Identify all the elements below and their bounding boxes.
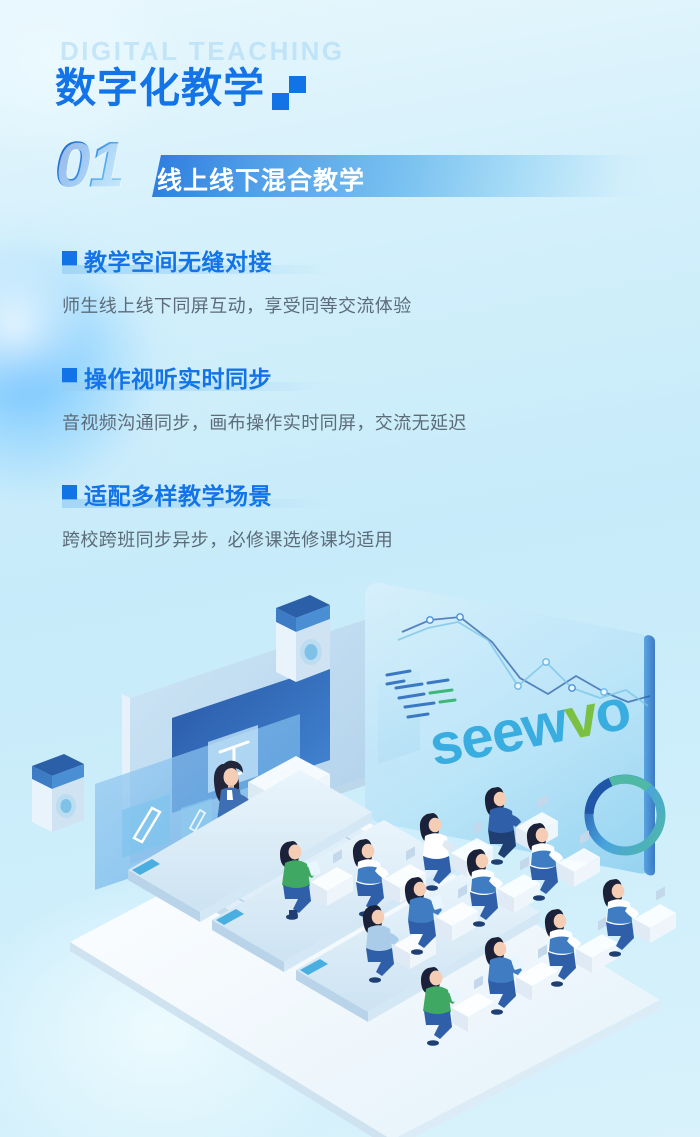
feature-item-3: 适配多样教学场景 跨校跨班同步异步，必修课选修课均适用: [62, 477, 622, 552]
section-banner: 01 线上线下混合教学: [55, 144, 655, 206]
feature-title-3: 适配多样教学场景: [84, 477, 272, 511]
section-number: 01: [55, 134, 123, 197]
square-bullet-icon: [62, 251, 77, 266]
square-bullet-icon: [62, 485, 77, 500]
feature-desc-2: 音视频沟通同步，画布操作实时同屏，交流无延迟: [62, 409, 622, 435]
section-title: 线上线下混合教学: [157, 161, 365, 197]
page-header: DIGITAL TEACHING 数字化教学: [55, 36, 655, 126]
feature-item-2: 操作视听实时同步 音视频沟通同步，画布操作实时同屏，交流无延迟: [62, 360, 622, 435]
square-bullet-icon: [62, 368, 77, 383]
feature-heading-2: 操作视听实时同步: [62, 360, 622, 394]
feature-heading-1: 教学空间无缝对接: [62, 243, 622, 277]
feature-item-1: 教学空间无缝对接 师生线上线下同屏互动，享受同等交流体验: [62, 243, 622, 318]
feature-title-1: 教学空间无缝对接: [84, 243, 272, 277]
feature-title-2: 操作视听实时同步: [84, 360, 272, 394]
classroom-illustration: seew v o: [0, 570, 700, 1137]
decor-square-icon-bottom: [272, 93, 289, 110]
page-root: DIGITAL TEACHING 数字化教学 01 线上线下混合教学 教学空间无…: [0, 0, 700, 1137]
page-title: 数字化教学: [55, 54, 265, 114]
camera-box-right: [276, 595, 330, 682]
camera-box-left: [32, 754, 84, 832]
feature-desc-1: 师生线上线下同屏互动，享受同等交流体验: [62, 292, 622, 318]
feature-desc-3: 跨校跨班同步异步，必修课选修课均适用: [62, 526, 622, 552]
decor-square-icon-top: [289, 76, 306, 93]
feature-heading-3: 适配多样教学场景: [62, 477, 622, 511]
